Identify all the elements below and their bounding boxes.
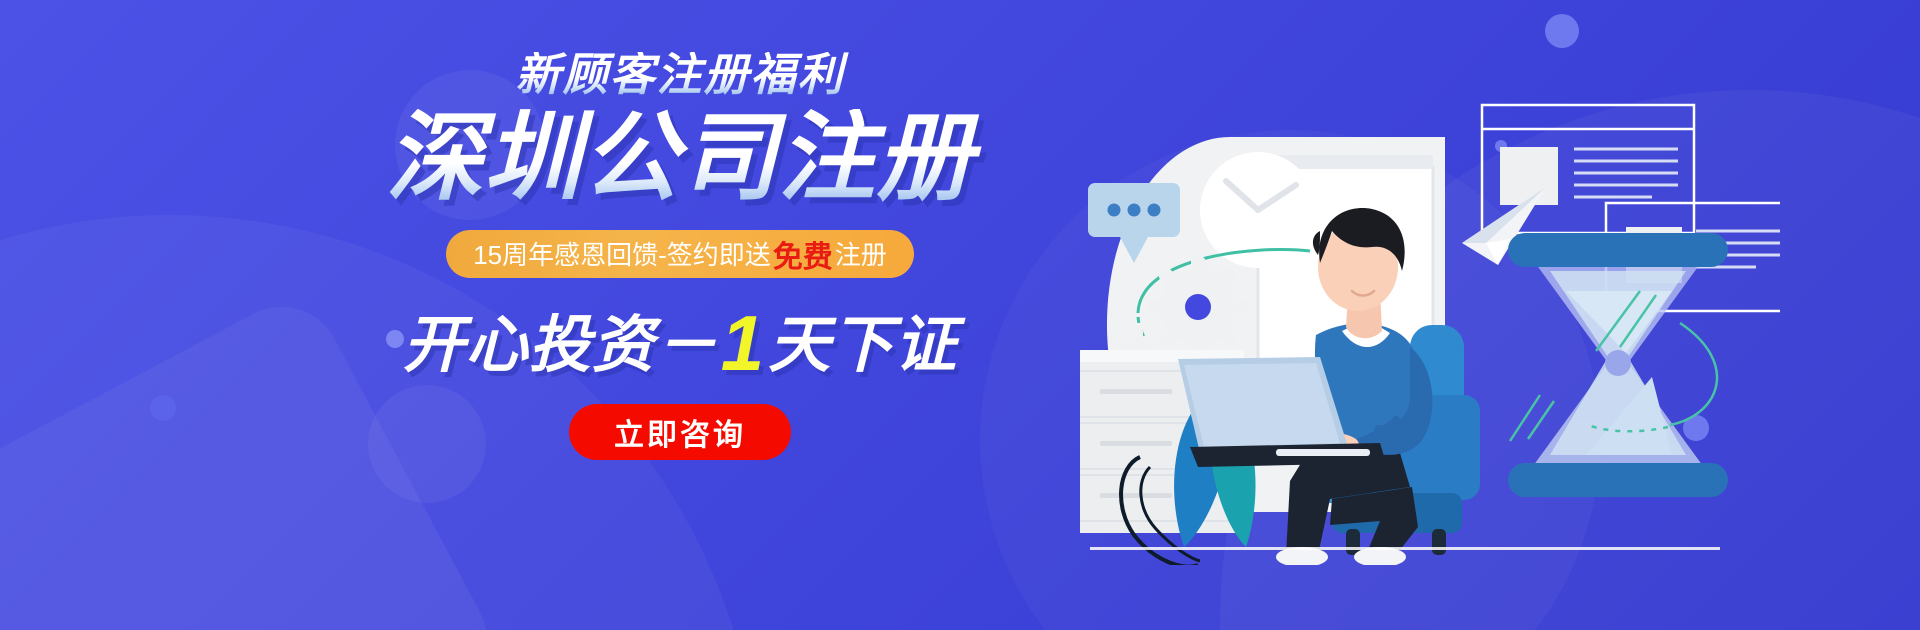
ground-line: [1090, 547, 1720, 550]
hourglass-icon: [1508, 233, 1728, 497]
copy-block: 新顾客注册福利 深圳公司注册 15周年感恩回馈-签约即送 免费 注册 开心投资－…: [330, 52, 1030, 460]
hero-illustration: [1080, 95, 1780, 565]
tagline-suffix: 天下证: [768, 311, 957, 380]
promo-banner: 新顾客注册福利 深圳公司注册 15周年感恩回馈-签约即送 免费 注册 开心投资－…: [0, 0, 1920, 630]
promo-prefix: 15周年感恩回馈-签约即送: [473, 235, 771, 272]
tagline-number: 1: [718, 299, 768, 387]
promo-highlight: 免费: [771, 232, 835, 276]
tagline: 开心投资－1天下证: [330, 304, 1030, 382]
page-title: 深圳公司注册: [330, 109, 1030, 208]
decorative-dot: [150, 395, 176, 421]
promo-pill: 15周年感恩回馈-签约即送 免费 注册: [446, 230, 914, 278]
tagline-prefix: 开心投资－: [403, 311, 718, 380]
gear-icon: [1148, 257, 1248, 357]
eyebrow-text: 新顾客注册福利: [330, 52, 1030, 97]
consult-now-button[interactable]: 立即咨询: [569, 404, 791, 460]
decorative-dot: [1545, 14, 1579, 48]
promo-suffix: 注册: [835, 235, 887, 272]
